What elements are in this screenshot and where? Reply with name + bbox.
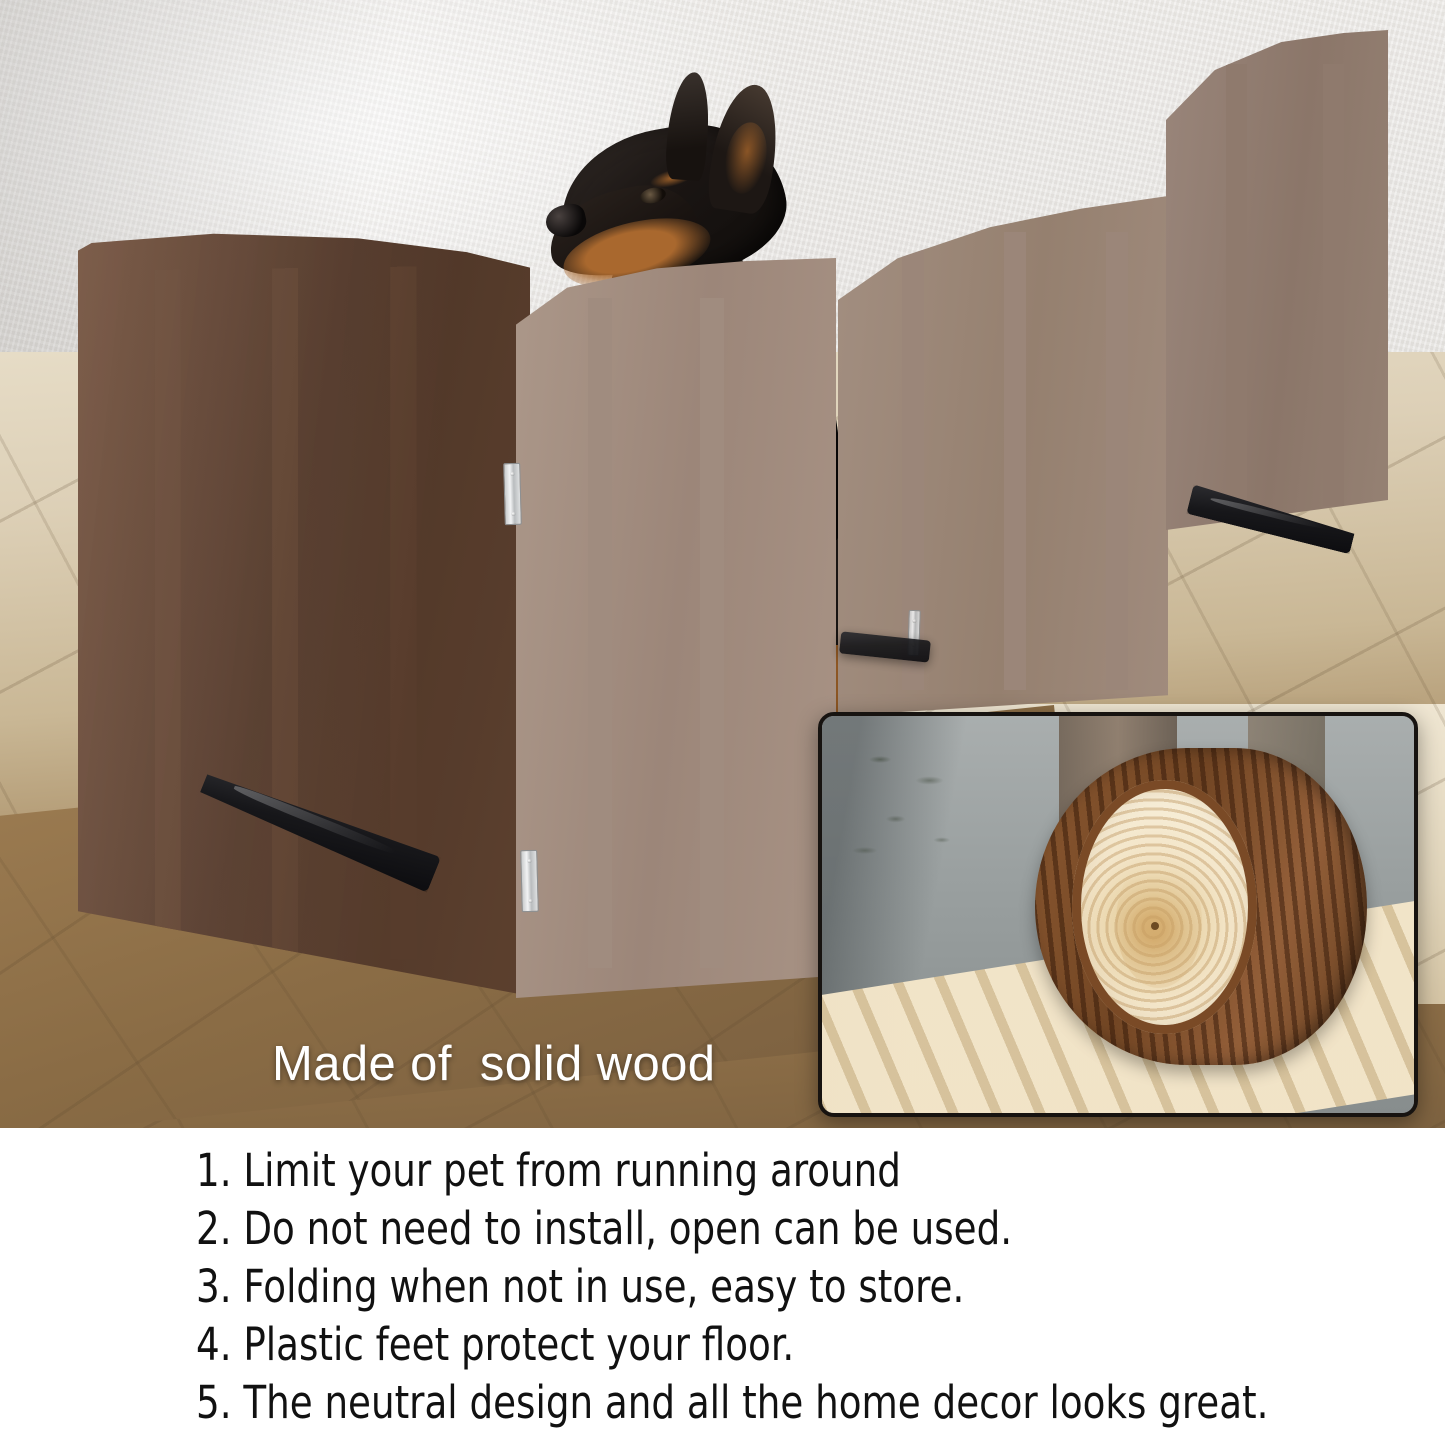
product-image: Made of solid wood 1. Limit your pet fro… xyxy=(0,0,1445,1445)
solid-wood-inset-photo xyxy=(818,712,1418,1117)
product-photo: Made of solid wood xyxy=(0,0,1445,1128)
vertical-slat xyxy=(1226,64,1247,506)
list-item: 1. Limit your pet from running around xyxy=(196,1142,1345,1200)
gate-panel-3-slats xyxy=(862,232,1146,690)
vertical-slat xyxy=(155,270,181,957)
list-item: 3. Folding when not in use, easy to stor… xyxy=(196,1258,1345,1316)
gate-panel-2 xyxy=(516,258,836,998)
vertical-slat xyxy=(272,268,298,958)
dog-ear-left xyxy=(664,71,711,182)
hinge-lower xyxy=(520,850,539,912)
vertical-slat xyxy=(700,298,724,968)
list-item: 5. The neutral design and all the home d… xyxy=(196,1374,1345,1432)
list-item: 4. Plastic feet protect your floor. xyxy=(196,1316,1345,1374)
gate-panel-4-slats xyxy=(1188,64,1368,506)
vertical-slat xyxy=(1004,232,1026,690)
gate-panel-1-slats xyxy=(110,265,502,960)
inset-foliage xyxy=(834,728,988,903)
made-of-solid-wood-caption: Made of solid wood xyxy=(272,1036,715,1092)
log-cut-face xyxy=(1072,780,1258,1034)
gate-panel-2-slats xyxy=(544,298,810,968)
hinge-upper xyxy=(503,463,522,525)
log-heartwood xyxy=(1116,856,1201,988)
list-item: 2. Do not need to install, open can be u… xyxy=(196,1200,1345,1258)
log-bark xyxy=(1035,748,1367,1066)
vertical-slat xyxy=(1106,232,1128,690)
vertical-slat xyxy=(588,298,612,968)
gate-panel-1 xyxy=(78,226,530,996)
gate-panel-4 xyxy=(1166,30,1388,530)
vertical-slat xyxy=(1323,64,1344,506)
feature-list: 1. Limit your pet from running around 2.… xyxy=(0,1128,1445,1445)
